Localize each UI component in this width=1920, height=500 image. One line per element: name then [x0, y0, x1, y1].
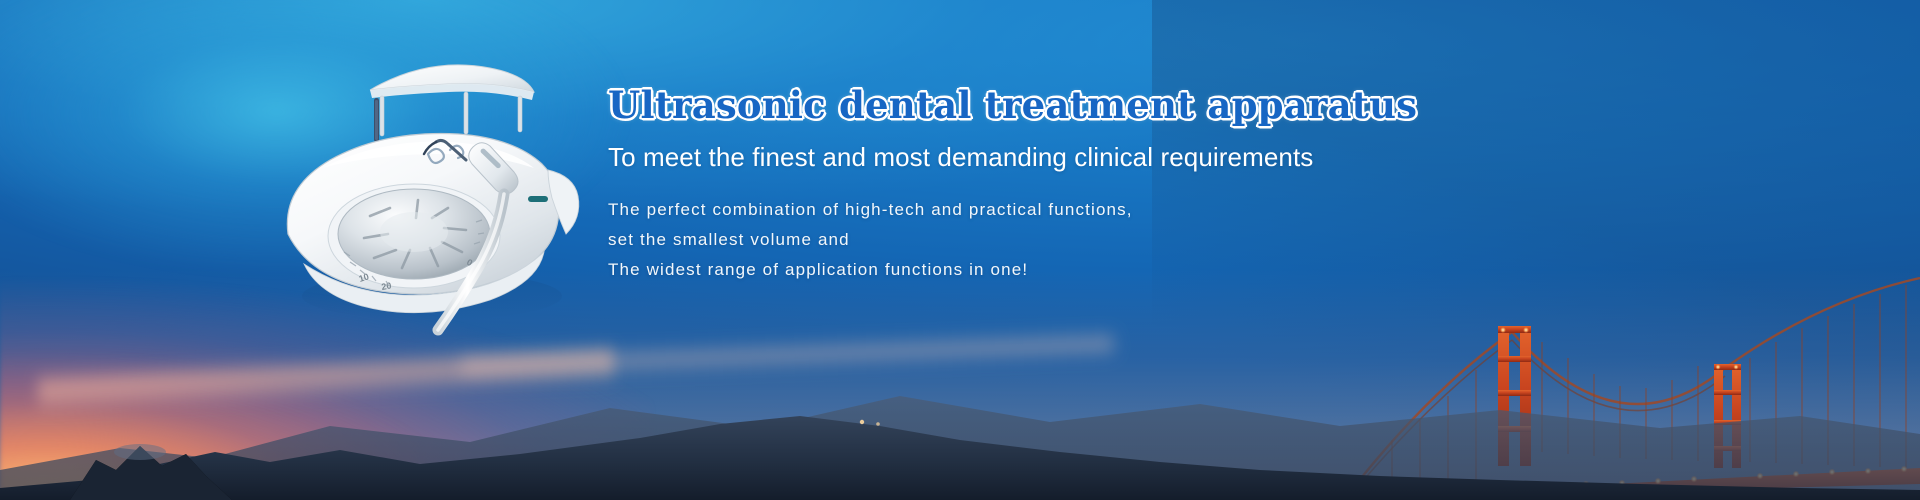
- body-line-1: The perfect combination of high-tech and…: [608, 195, 1368, 225]
- banner-copy: Ultrasonic dental treatment apparatus To…: [608, 86, 1368, 286]
- banner-subtitle: To meet the finest and most demanding cl…: [608, 142, 1368, 173]
- body-line-2: set the smallest volume and: [608, 225, 1368, 255]
- promo-banner: 10 20 0 Ultrasonic d: [0, 0, 1920, 500]
- scaler-tip-holder: [370, 65, 534, 142]
- status-indicator-light: [528, 196, 548, 202]
- banner-title: Ultrasonic dental treatment apparatus: [608, 86, 1368, 126]
- banner-body-text: The perfect combination of high-tech and…: [608, 195, 1368, 286]
- body-line-3: The widest range of application function…: [608, 255, 1368, 285]
- mountain-silhouette: [0, 330, 1920, 500]
- product-image-ultrasonic-scaler: 10 20 0: [252, 38, 602, 338]
